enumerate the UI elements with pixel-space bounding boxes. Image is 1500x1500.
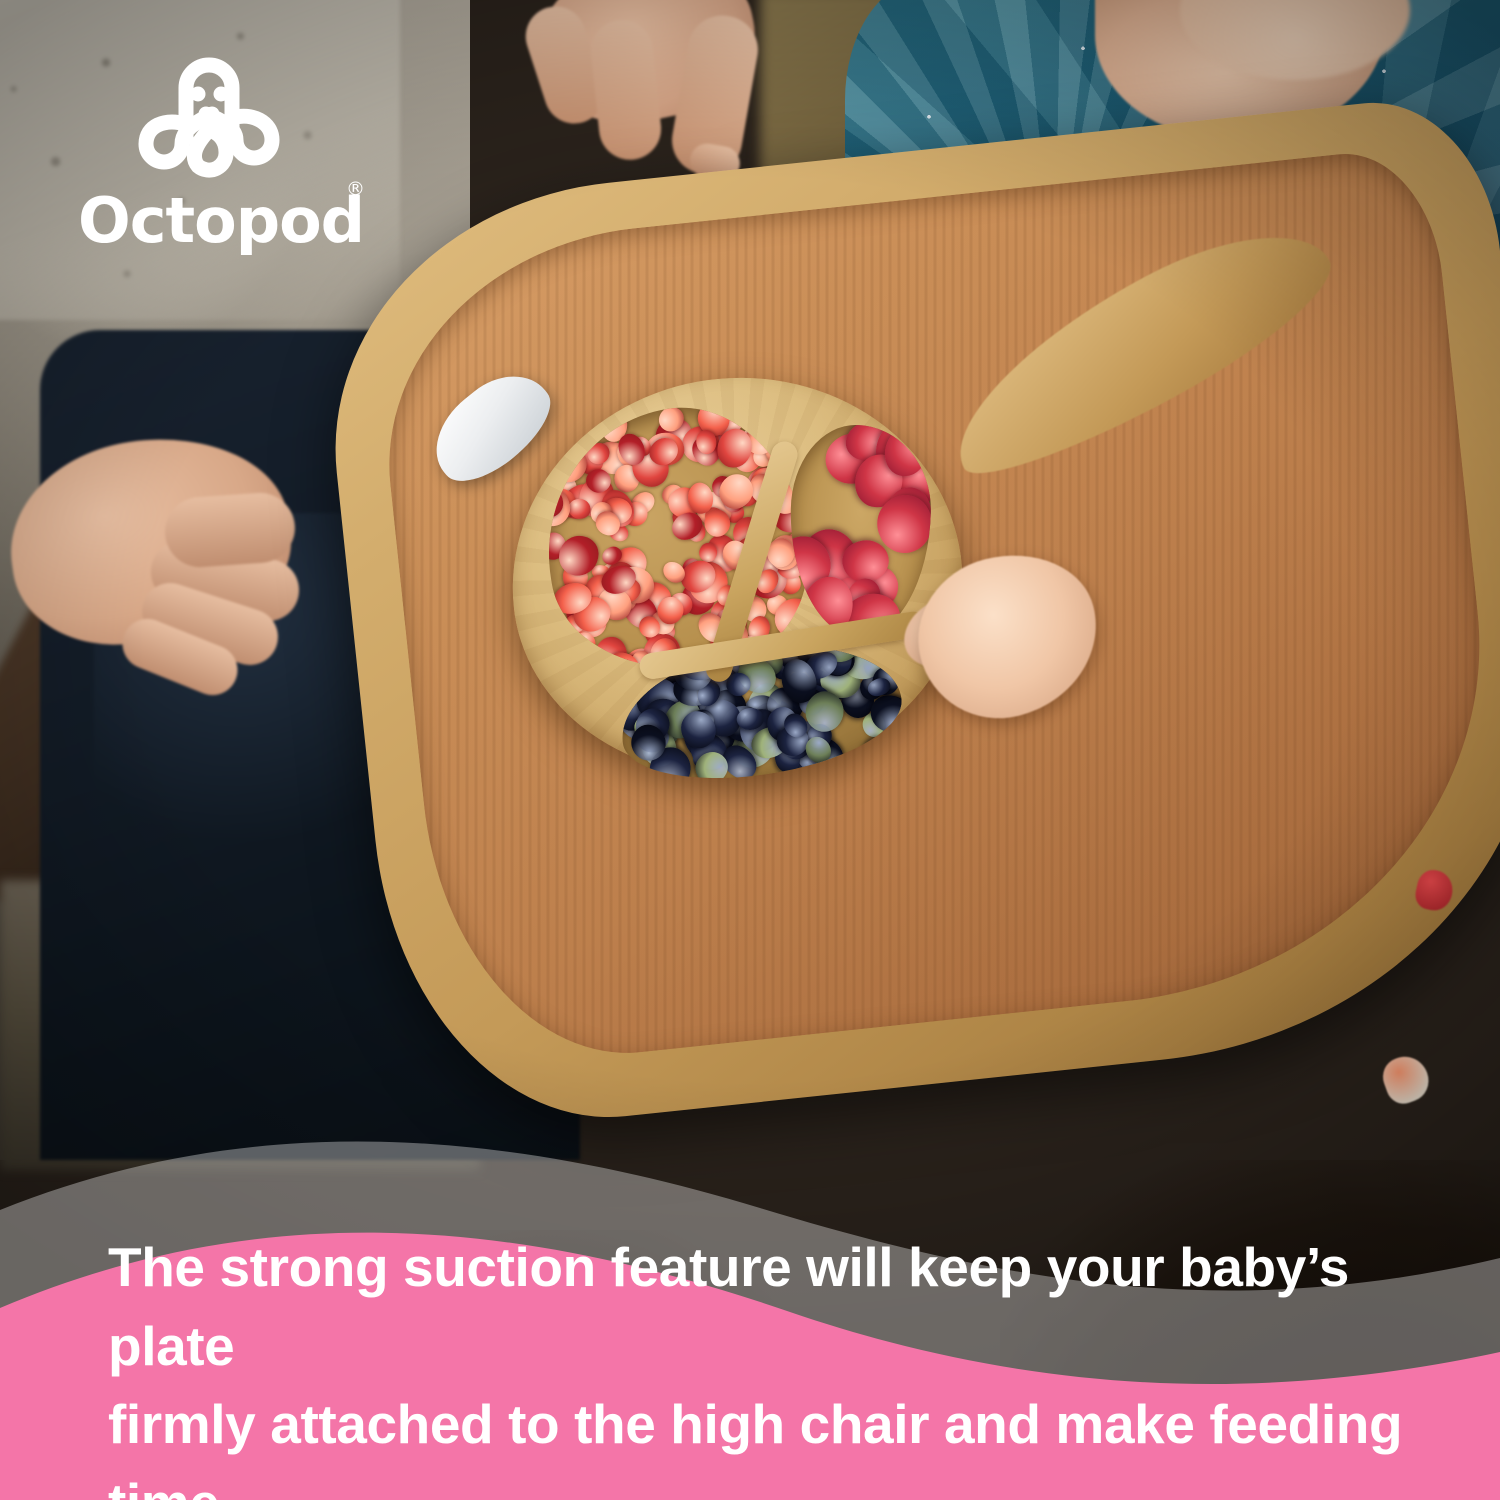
bamboo-suction-plate	[496, 359, 979, 795]
registered-trademark-symbol: ®	[346, 180, 365, 199]
brand-logo: Octopod ®	[78, 52, 398, 262]
caption-text: The strong suction feature will keep you…	[108, 1228, 1408, 1500]
octopus-icon	[134, 52, 284, 182]
adult-resting-hand	[0, 400, 330, 690]
caption-line-2: firmly attached to the high chair and ma…	[108, 1385, 1408, 1500]
product-marketing-image: Octopod ® The strong suction feature wil…	[0, 0, 1500, 1500]
caption-line-1: The strong suction feature will keep you…	[108, 1228, 1408, 1385]
